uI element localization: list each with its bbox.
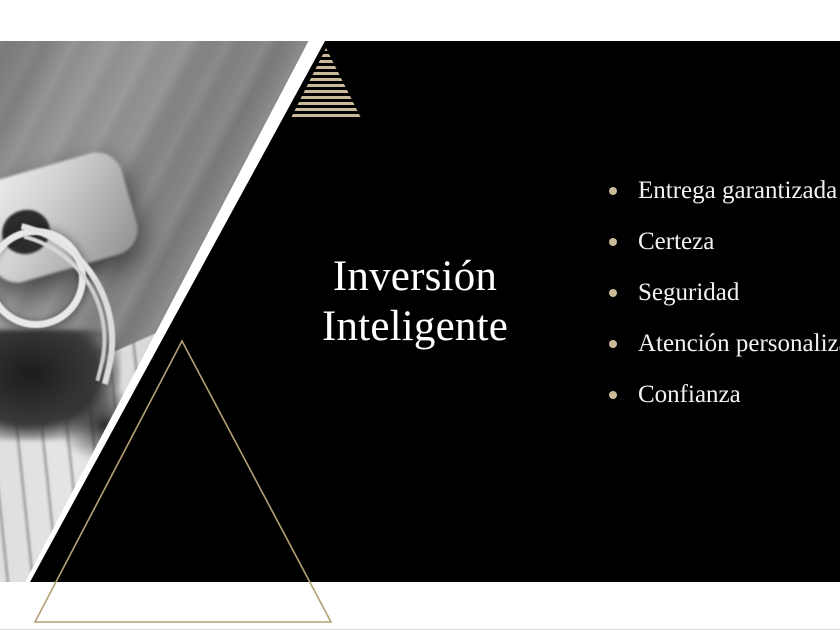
page-title-line-2: Inteligente [250, 302, 580, 352]
bullet-dot-icon [609, 340, 617, 348]
bullet-dot-icon [609, 289, 617, 297]
list-item-label: Confianza [638, 381, 741, 408]
list-item-label: Certeza [638, 228, 714, 255]
bullet-dot-icon [609, 391, 617, 399]
list-item-label: Atención personalizada [638, 330, 840, 357]
bullet-dot-icon [609, 238, 617, 246]
bullet-dot-icon [609, 187, 617, 195]
benefits-list: Entrega garantizada Certeza Seguridad At… [606, 173, 840, 428]
top-white-band [0, 0, 840, 41]
list-item: Seguridad [606, 275, 840, 326]
bottom-white-band [0, 582, 840, 630]
list-item: Confianza [606, 377, 840, 428]
list-item: Atención personalizada [606, 326, 840, 377]
page-title: Inversión Inteligente [250, 252, 580, 352]
page-title-line-1: Inversión [250, 252, 580, 302]
slide-canvas: Inversión Inteligente Entrega garantizad… [0, 0, 840, 630]
list-item-label: Entrega garantizada [638, 177, 837, 204]
list-item-label: Seguridad [638, 279, 739, 306]
list-item: Entrega garantizada [606, 173, 840, 224]
list-item: Certeza [606, 224, 840, 275]
